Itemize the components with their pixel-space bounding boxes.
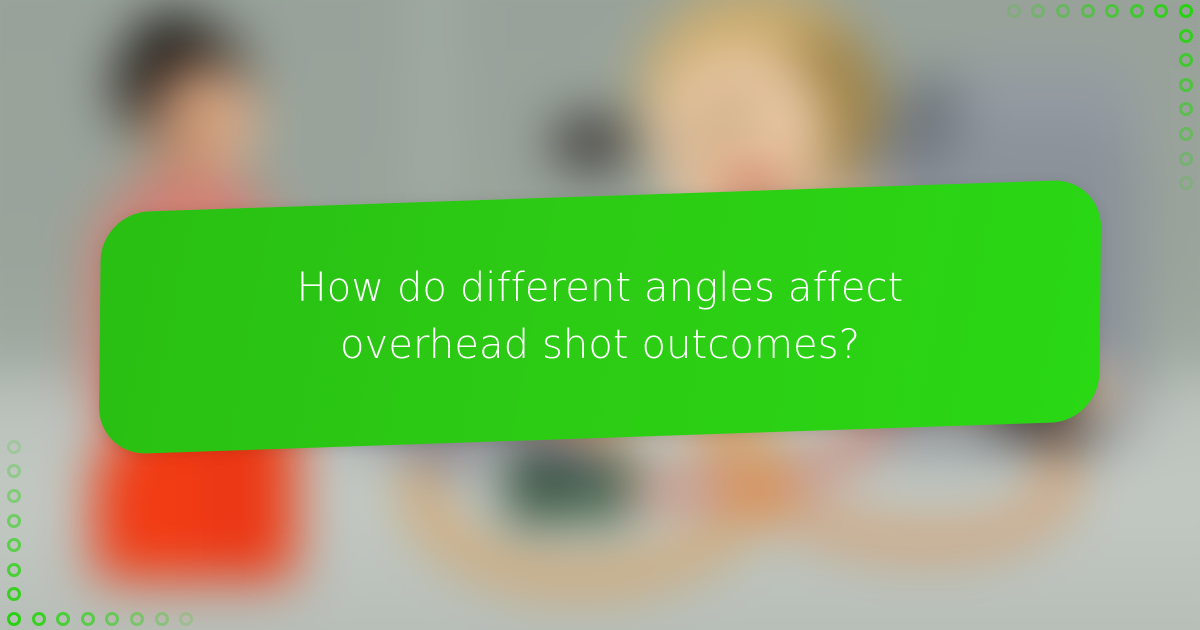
photo-child-left-hair-top — [136, 14, 206, 66]
photo-dark-object — [552, 116, 632, 170]
quote-card: How do different angles affect overhead … — [100, 196, 1100, 438]
quote-card-text-area: How do different angles affect overhead … — [100, 196, 1100, 438]
photo-shoe-left — [506, 452, 568, 524]
quote-headline: How do different angles affect overhead … — [205, 260, 995, 374]
photo-door-seam — [428, 0, 438, 210]
quote-card-canvas: How do different angles affect overhead … — [0, 0, 1200, 630]
photo-child-right-eye-left — [712, 100, 750, 126]
photo-child-left-shirt-lower — [94, 438, 214, 578]
photo-child-left-face-shadow — [145, 90, 205, 178]
photo-child-right-eye-right — [678, 136, 708, 158]
